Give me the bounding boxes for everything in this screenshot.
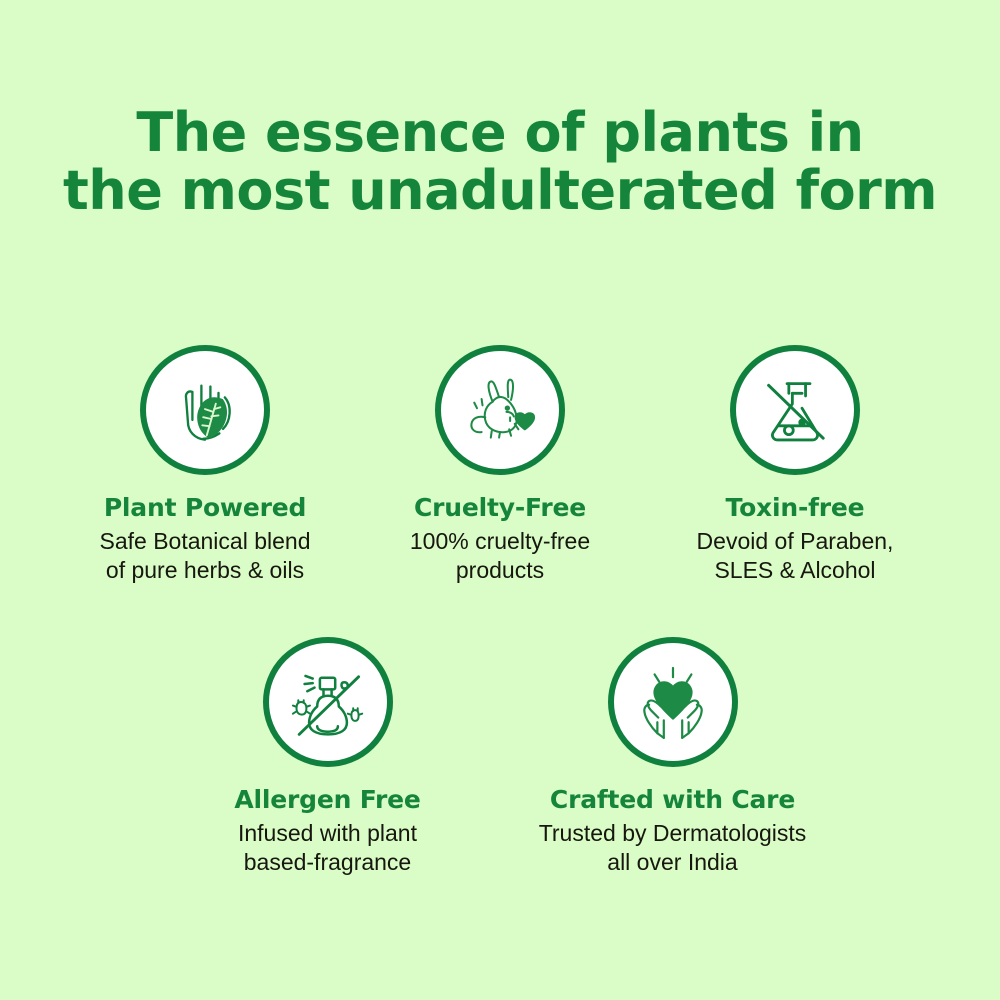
page-title: The essence of plants in the most unadul…: [0, 104, 1000, 220]
feature-icon-badge: [608, 637, 738, 767]
feature-description: Infused with plant based-fragrance: [238, 819, 417, 877]
hands-holding-heart-icon: [627, 656, 719, 748]
feature-icon-badge: [140, 345, 270, 475]
feature-allergen-free: Allergen Free Infused with plant based-f…: [155, 637, 500, 877]
feature-description-line-2: products: [410, 556, 590, 585]
feature-description-line-1: Devoid of Paraben,: [697, 527, 894, 556]
feature-description: 100% cruelty-free products: [410, 527, 590, 585]
feature-icon-badge: [263, 637, 393, 767]
headline-line-2: the most unadulterated form: [0, 162, 1000, 220]
feature-description: Trusted by Dermatologists all over India: [539, 819, 807, 877]
no-chemical-flask-icon: [751, 366, 839, 454]
hand-holding-leaf-icon: [160, 365, 250, 455]
feature-cruelty-free: Cruelty-Free 100% cruelty-free products: [353, 345, 648, 585]
feature-description-line-2: of pure herbs & oils: [100, 556, 311, 585]
feature-row-top: Plant Powered Safe Botanical blend of pu…: [0, 345, 1000, 585]
feature-crafted-with-care: Crafted with Care Trusted by Dermatologi…: [500, 637, 845, 877]
feature-description-line-1: 100% cruelty-free: [410, 527, 590, 556]
feature-plant-powered: Plant Powered Safe Botanical blend of pu…: [58, 345, 353, 585]
feature-description-line-2: all over India: [539, 848, 807, 877]
feature-row-bottom: Allergen Free Infused with plant based-f…: [0, 637, 1000, 877]
feature-title: Allergen Free: [234, 785, 420, 815]
feature-icon-badge: [435, 345, 565, 475]
feature-title: Plant Powered: [104, 493, 306, 523]
no-fragrance-spray-bottle-icon: [283, 657, 373, 747]
feature-title: Crafted with Care: [550, 785, 795, 815]
feature-description-line-2: based-fragrance: [238, 848, 417, 877]
feature-description-line-1: Infused with plant: [238, 819, 417, 848]
feature-title: Toxin-free: [726, 493, 865, 523]
feature-description: Safe Botanical blend of pure herbs & oil…: [100, 527, 311, 585]
headline-line-1: The essence of plants in: [136, 101, 863, 164]
feature-description-line-1: Trusted by Dermatologists: [539, 819, 807, 848]
feature-toxin-free: Toxin-free Devoid of Paraben, SLES & Alc…: [648, 345, 943, 585]
feature-description-line-1: Safe Botanical blend: [100, 527, 311, 556]
rabbit-heart-icon: [454, 364, 546, 456]
feature-title: Cruelty-Free: [414, 493, 586, 523]
feature-icon-badge: [730, 345, 860, 475]
promo-banner: The essence of plants in the most unadul…: [0, 0, 1000, 1000]
feature-description: Devoid of Paraben, SLES & Alcohol: [697, 527, 894, 585]
feature-description-line-2: SLES & Alcohol: [697, 556, 894, 585]
